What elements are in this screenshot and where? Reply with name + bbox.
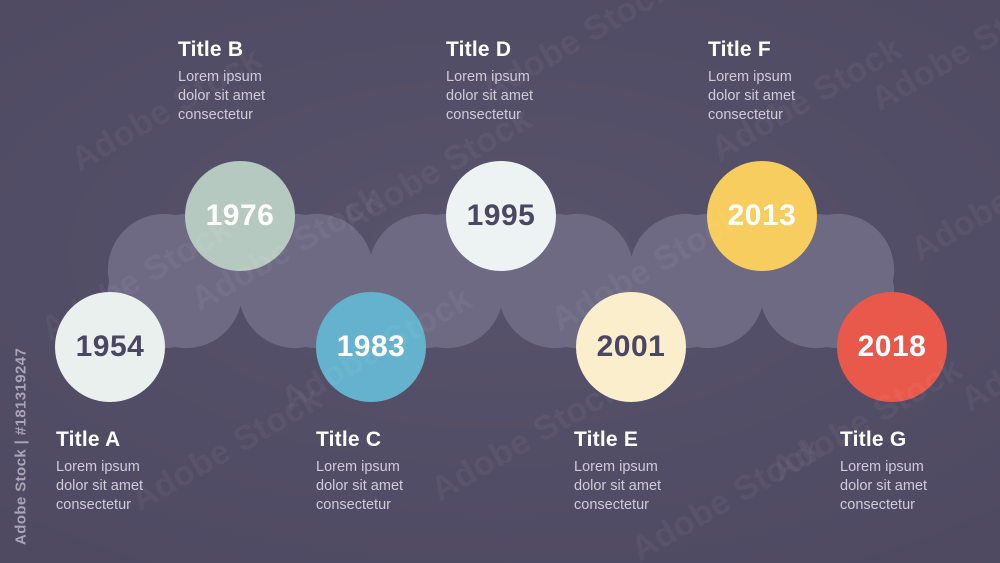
timeline-label-title: Title E <box>574 428 764 451</box>
timeline-node-year: 1983 <box>337 332 406 362</box>
timeline-label-title: Title F <box>708 38 898 61</box>
watermark-rail: Adobe Stock | #181319247 <box>0 0 42 563</box>
timeline-label-title: Title D <box>446 38 636 61</box>
timeline-nodes: 1954197619831995200120132018 Title ALore… <box>0 0 1000 563</box>
timeline-node-year: 1995 <box>467 201 536 231</box>
watermark-rail-label: Adobe Stock | #181319247 <box>13 348 30 545</box>
timeline-node-year: 2001 <box>597 332 666 362</box>
timeline-node-year: 2018 <box>858 332 927 362</box>
timeline-label-description: Lorem ipsum dolor sit amet consectetur <box>840 458 1000 515</box>
timeline-node-1976[interactable]: 1976 <box>185 161 295 271</box>
timeline-label-title-g: Title GLorem ipsum dolor sit amet consec… <box>840 428 1000 515</box>
infographic-canvas: 1954197619831995200120132018 Title ALore… <box>0 0 1000 563</box>
timeline-label-title-a: Title ALorem ipsum dolor sit amet consec… <box>56 428 246 515</box>
timeline-label-description: Lorem ipsum dolor sit amet consectetur <box>446 68 636 125</box>
timeline-label-description: Lorem ipsum dolor sit amet consectetur <box>708 68 898 125</box>
timeline-node-1995[interactable]: 1995 <box>446 161 556 271</box>
timeline-label-description: Lorem ipsum dolor sit amet consectetur <box>574 458 764 515</box>
timeline-label-title-b: Title BLorem ipsum dolor sit amet consec… <box>178 38 368 125</box>
timeline-label-title: Title B <box>178 38 368 61</box>
timeline-label-title-f: Title FLorem ipsum dolor sit amet consec… <box>708 38 898 125</box>
timeline-node-year: 2013 <box>728 201 797 231</box>
timeline-label-description: Lorem ipsum dolor sit amet consectetur <box>178 68 368 125</box>
timeline-label-description: Lorem ipsum dolor sit amet consectetur <box>56 458 246 515</box>
timeline-label-title-c: Title CLorem ipsum dolor sit amet consec… <box>316 428 506 515</box>
timeline-node-2013[interactable]: 2013 <box>707 161 817 271</box>
timeline-label-title-d: Title DLorem ipsum dolor sit amet consec… <box>446 38 636 125</box>
timeline-label-title: Title C <box>316 428 506 451</box>
timeline-node-year: 1954 <box>76 332 145 362</box>
timeline-label-title-e: Title ELorem ipsum dolor sit amet consec… <box>574 428 764 515</box>
timeline-node-2018[interactable]: 2018 <box>837 292 947 402</box>
timeline-label-title: Title G <box>840 428 1000 451</box>
timeline-label-description: Lorem ipsum dolor sit amet consectetur <box>316 458 506 515</box>
timeline-node-1983[interactable]: 1983 <box>316 292 426 402</box>
timeline-label-title: Title A <box>56 428 246 451</box>
timeline-node-1954[interactable]: 1954 <box>55 292 165 402</box>
timeline-node-2001[interactable]: 2001 <box>576 292 686 402</box>
timeline-node-year: 1976 <box>206 201 275 231</box>
